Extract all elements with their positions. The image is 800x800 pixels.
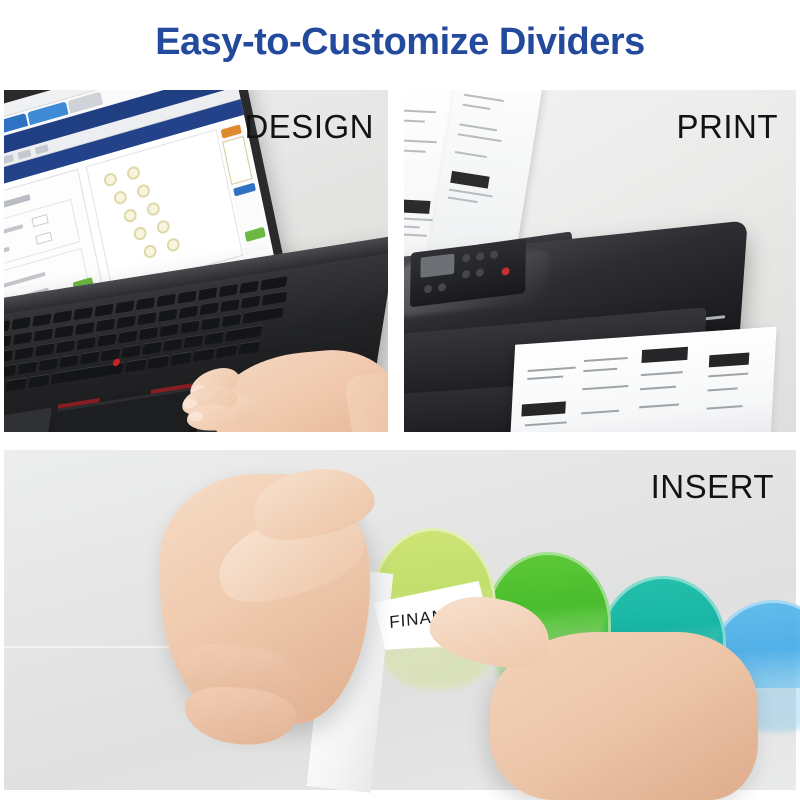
printer-button — [438, 283, 446, 292]
hand-icon — [430, 596, 750, 796]
panel-label-print: PRINT — [677, 108, 779, 146]
label-circle — [103, 172, 118, 188]
panel-print: PRINT — [404, 90, 796, 432]
printer-button — [476, 268, 484, 277]
field-input — [31, 214, 48, 227]
printer-button — [424, 284, 432, 293]
field-label — [4, 224, 23, 241]
printer-button — [462, 270, 470, 279]
printer-button — [490, 250, 498, 259]
label-circle — [146, 201, 161, 217]
header: Easy-to-Customize Dividers — [0, 0, 800, 84]
product-feature-image: Easy-to-Customize Dividers — [0, 0, 800, 800]
hand-index-finger — [424, 586, 555, 676]
label-circle — [126, 165, 141, 181]
printer-power-button — [502, 267, 510, 276]
palm-rest-left — [4, 408, 52, 432]
hand-icon — [160, 470, 410, 790]
panel-design: DESIGN — [4, 90, 388, 432]
hand-finger — [187, 405, 239, 431]
page-title: Easy-to-Customize Dividers — [155, 21, 645, 64]
printer-lcd-display — [420, 254, 454, 278]
printer-button — [462, 254, 470, 263]
field-label — [4, 247, 10, 259]
label-circle — [156, 219, 171, 235]
printer-button — [476, 252, 484, 261]
label-circle — [166, 237, 181, 253]
field-input — [35, 232, 52, 245]
rail-next-button — [244, 227, 265, 242]
panel-label-design: DESIGN — [244, 108, 374, 146]
panel-label-insert: INSERT — [651, 468, 774, 506]
label-circle — [136, 183, 151, 199]
label-circle — [133, 225, 148, 241]
printed-label-sheet — [509, 327, 776, 432]
radio-label — [4, 272, 46, 291]
label-circle — [123, 207, 138, 223]
label-circle — [113, 189, 128, 205]
hand-icon — [166, 318, 388, 432]
rail-action-button — [233, 183, 256, 197]
label-circle — [143, 243, 158, 259]
